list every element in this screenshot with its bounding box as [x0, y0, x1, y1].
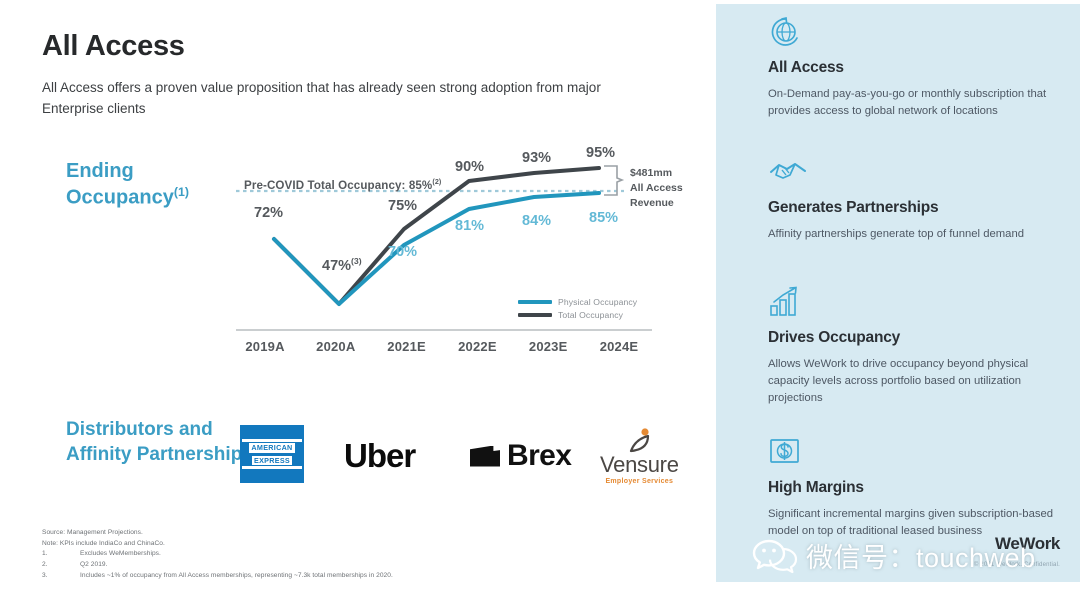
- american-express-logo: AMERICAN EXPRESS: [240, 425, 304, 483]
- revenue-bracket-icon: [604, 166, 622, 195]
- chart-legend: Physical Occupancy Total Occupancy: [518, 297, 637, 323]
- physical-label-2022: 81%: [455, 218, 484, 234]
- ending-occupancy-text: Ending Occupancy: [66, 160, 174, 209]
- total-label-2020: 47%(3): [322, 256, 362, 274]
- handshake-icon: [768, 156, 1068, 190]
- footnote-item-3: 3.Includes ~1% of occupancy from All Acc…: [42, 571, 602, 582]
- brex-wordmark: Brex: [507, 439, 571, 473]
- x-tick-2022e: 2022E: [444, 339, 510, 354]
- footnote-note: Note: KPIs include IndiaCo and ChinaCo.: [42, 539, 602, 550]
- vensure-figure-icon: [618, 428, 660, 454]
- ending-occupancy-label: Ending Occupancy(1): [66, 158, 246, 211]
- dollar-bill-icon: [768, 436, 1068, 470]
- card-drives-occupancy: Drives Occupancy Allows WeWork to drive …: [768, 286, 1068, 407]
- card-high-margins: High Margins Significant incremental mar…: [768, 436, 1068, 540]
- card-title-drives-occupancy: Drives Occupancy: [768, 329, 1068, 347]
- total-label-2023: 93%: [522, 150, 551, 166]
- vensure-tagline: Employer Services: [605, 478, 673, 485]
- growth-chart-icon: [768, 286, 1068, 320]
- benefits-sidebar: All Access On-Demand pay-as-you-go or mo…: [716, 4, 1080, 582]
- pre-covid-text: Pre-COVID Total Occupancy: 85%: [244, 179, 432, 192]
- card-body-generates-partnerships: Affinity partnerships generate top of fu…: [768, 226, 1068, 243]
- distributors-label: Distributors and Affinity Partnerships: [66, 418, 256, 467]
- partner-logos: AMERICAN EXPRESS Uber Brex Vensure Emplo…: [232, 420, 692, 492]
- revenue-annotation: $481mm All Access Revenue: [630, 166, 710, 211]
- revenue-amount: $481mm: [630, 166, 710, 181]
- physical-occupancy-line: [274, 193, 599, 304]
- footnotes: Source: Management Projections. Note: KP…: [42, 528, 602, 581]
- card-generates-partnerships: Generates Partnerships Affinity partners…: [768, 156, 1068, 243]
- amex-rule-bottom: [242, 466, 302, 469]
- revenue-line3: Revenue: [630, 196, 710, 211]
- page-title: All Access: [42, 30, 185, 63]
- ending-occupancy-footnote-marker: (1): [174, 185, 189, 199]
- wework-logo: WeWork: [995, 534, 1060, 554]
- pre-covid-annotation: Pre-COVID Total Occupancy: 85%(2): [244, 177, 441, 192]
- card-title-high-margins: High Margins: [768, 479, 1068, 497]
- x-tick-2019a: 2019A: [232, 339, 298, 354]
- legend-label-total: Total Occupancy: [558, 310, 623, 320]
- card-title-generates-partnerships: Generates Partnerships: [768, 199, 1068, 217]
- total-label-2019: 72%: [254, 205, 283, 221]
- legend-item-physical: Physical Occupancy: [518, 297, 637, 307]
- copyright-text: © 2021 WeWork. Confidential.: [974, 562, 1060, 568]
- x-tick-2021e: 2021E: [374, 339, 440, 354]
- footnote-item-1: 1.Excludes WeMemberships.: [42, 549, 602, 560]
- brex-mark-icon: [470, 446, 500, 467]
- physical-label-2023: 84%: [522, 213, 551, 229]
- slide-all-access: All Access All Access offers a proven va…: [0, 0, 1080, 604]
- physical-label-2021: 70%: [388, 244, 417, 260]
- card-body-all-access: On-Demand pay-as-you-go or monthly subsc…: [768, 86, 1068, 120]
- legend-swatch-physical: [518, 300, 552, 304]
- chart-x-tick-labels: 2019A 2020A 2021E 2022E 2023E 2024E: [232, 339, 652, 354]
- total-label-2024: 95%: [586, 145, 615, 161]
- page-subtitle: All Access offers a proven value proposi…: [42, 78, 602, 120]
- legend-item-total: Total Occupancy: [518, 310, 637, 320]
- uber-logo: Uber: [344, 420, 415, 492]
- legend-swatch-total: [518, 313, 552, 317]
- brex-logo: Brex: [470, 420, 571, 492]
- vensure-logo: Vensure Employer Services: [600, 420, 679, 492]
- x-tick-2023e: 2023E: [515, 339, 581, 354]
- card-all-access: All Access On-Demand pay-as-you-go or mo…: [768, 16, 1068, 120]
- legend-label-physical: Physical Occupancy: [558, 297, 637, 307]
- x-tick-2024e: 2024E: [586, 339, 652, 354]
- total-label-2022: 90%: [455, 159, 484, 175]
- card-body-drives-occupancy: Allows WeWork to drive occupancy beyond …: [768, 356, 1068, 407]
- card-title-all-access: All Access: [768, 59, 1068, 77]
- x-tick-2020a: 2020A: [303, 339, 369, 354]
- footnote-source: Source: Management Projections.: [42, 528, 602, 539]
- pre-covid-footnote-marker: (2): [432, 177, 441, 186]
- revenue-line2: All Access: [630, 181, 710, 196]
- physical-label-2024: 85%: [589, 210, 618, 226]
- amex-rule-top: [242, 439, 302, 442]
- vensure-wordmark: Vensure: [600, 454, 679, 476]
- amex-line2: EXPRESS: [252, 456, 292, 465]
- amex-line1: AMERICAN: [249, 443, 294, 452]
- slide-left-content: All Access All Access offers a proven va…: [0, 0, 716, 604]
- globe-refresh-icon: [768, 16, 1068, 50]
- total-label-2021: 75%: [388, 198, 417, 214]
- footnote-item-2: 2.Q2 2019.: [42, 560, 602, 571]
